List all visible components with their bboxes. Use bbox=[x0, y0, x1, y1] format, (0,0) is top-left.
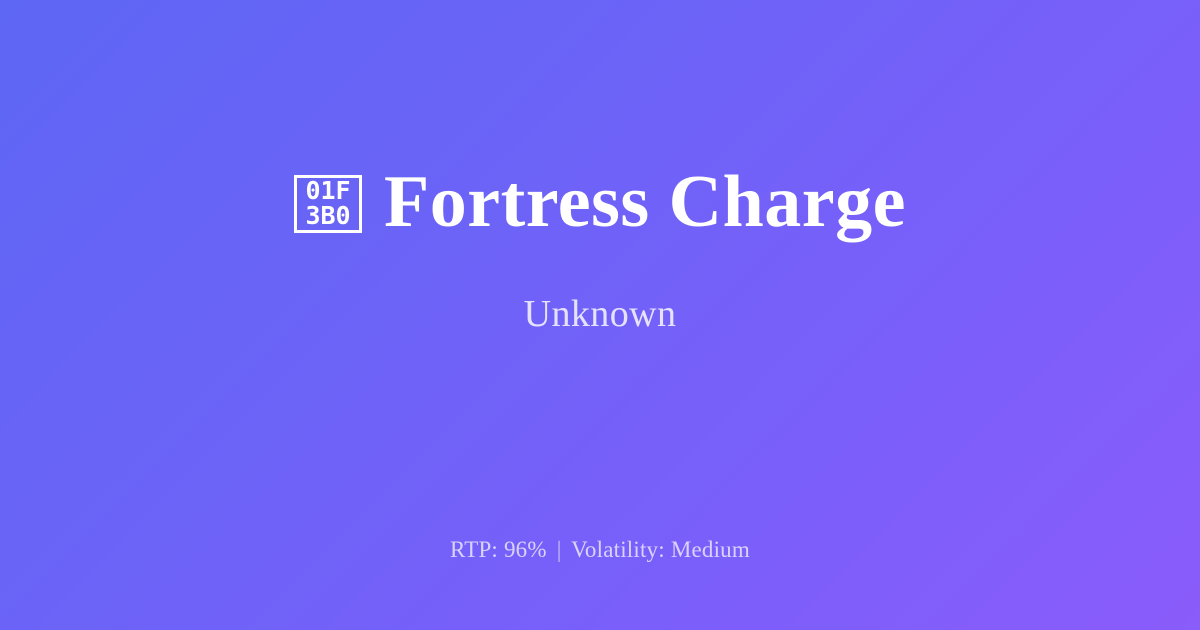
meta-volatility-label: Volatility: bbox=[571, 537, 665, 562]
slot-machine-emoji-icon: 01F 3B0 bbox=[294, 175, 362, 233]
meta-volatility-value: Medium bbox=[671, 537, 750, 562]
hero-stack: 01F 3B0 Fortress Charge Unknown bbox=[0, 0, 1200, 500]
game-og-card: 01F 3B0 Fortress Charge Unknown RTP: 96%… bbox=[0, 0, 1200, 630]
meta-rtp-label: RTP: bbox=[450, 537, 498, 562]
game-provider: Unknown bbox=[524, 294, 677, 336]
tofu-codepoint-bottom: 3B0 bbox=[305, 204, 350, 229]
title-row: 01F 3B0 Fortress Charge bbox=[294, 164, 906, 242]
game-meta: RTP: 96% | Volatility: Medium bbox=[0, 536, 1200, 564]
meta-separator: | bbox=[553, 537, 566, 562]
game-title: Fortress Charge bbox=[384, 164, 906, 242]
meta-rtp-value: 96% bbox=[504, 537, 547, 562]
